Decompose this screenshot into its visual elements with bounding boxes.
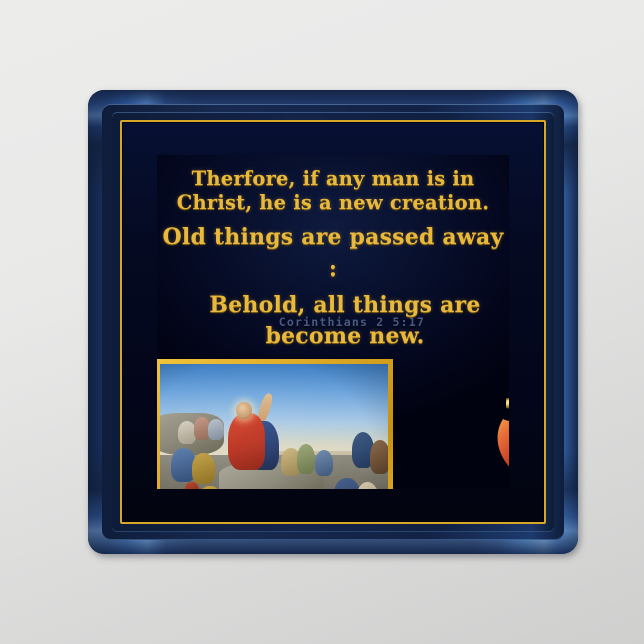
cross-horizontal-bar bbox=[506, 398, 509, 409]
painting-vignette bbox=[160, 364, 388, 489]
flame-shape bbox=[498, 411, 509, 471]
cross-and-flame-emblem bbox=[487, 373, 509, 483]
scripture-citation: Corinthians 2 5:17 bbox=[279, 315, 425, 329]
verse-line-2: Old things are passed away : bbox=[157, 222, 509, 286]
verse-line-1: Therfore, if any man is in Christ, he is… bbox=[157, 167, 509, 216]
poster-content-field: Therfore, if any man is in Christ, he is… bbox=[157, 155, 509, 489]
cross-highlight-horizontal bbox=[507, 400, 509, 402]
cross-and-flame-icon bbox=[487, 373, 509, 483]
gold-keyline: Therfore, if any man is in Christ, he is… bbox=[120, 120, 546, 524]
poster: Therfore, if any man is in Christ, he is… bbox=[88, 90, 578, 554]
painting-gold-frame bbox=[157, 359, 393, 489]
sermon-on-the-mount-painting bbox=[160, 364, 388, 489]
